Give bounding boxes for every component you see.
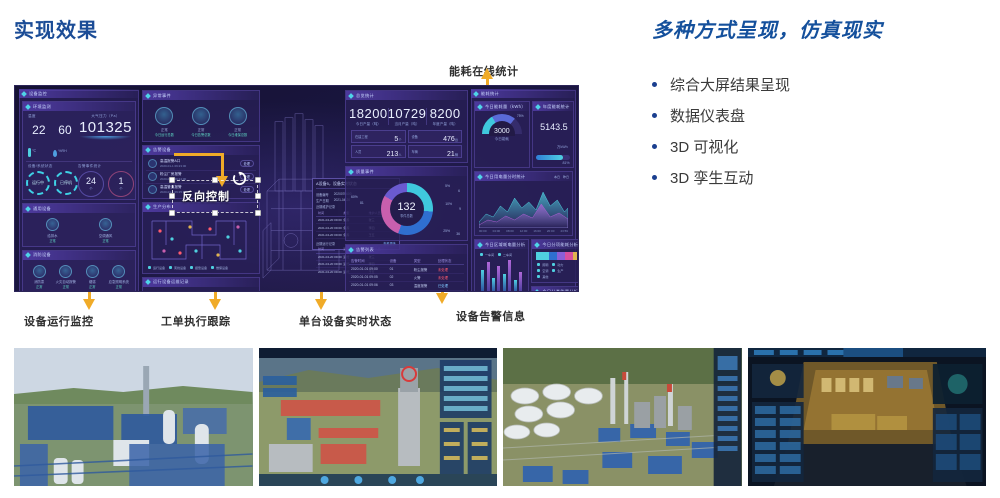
panel-title: 年度能耗统计 xyxy=(543,104,570,110)
legend-item: 维保设备 xyxy=(211,266,228,270)
fire-alarm-icon xyxy=(59,265,72,278)
stat-cell[interactable]: 人员 213人 xyxy=(351,145,406,158)
panel-annual-energy: 年度能耗统计 5143.5 万kWh 81% xyxy=(532,101,574,168)
panel-header: 今日用电量分时统计 本日 昨日 xyxy=(475,172,572,181)
cell: 2021-04-20 09:00 xyxy=(318,226,343,230)
dashboard-screenshot: 设备监控 环境监测 温度 xyxy=(14,85,579,292)
diamond-icon xyxy=(477,104,483,110)
stat-unit: 台 xyxy=(455,138,458,142)
stat-unit: 个 xyxy=(398,138,401,142)
column-header: 维修内容 xyxy=(175,291,202,292)
card-label: 今日告警总数 xyxy=(191,132,210,137)
annual-value: 5143.5 xyxy=(540,122,568,132)
kpi-group: 18200 今日产量（吨） 10729 当月产量（吨） 8200 年度产量（吨） xyxy=(349,103,464,129)
column-header: 设备名称 xyxy=(148,291,175,292)
diamond-icon xyxy=(348,247,354,253)
kpi-card: 10729 当月产量（吨） xyxy=(388,106,427,127)
panel-abnormal-events: 异常事件 正常 今日运行总数 正常 今日告警总数 正常 xyxy=(142,90,260,142)
stacked-bar xyxy=(536,252,577,260)
hvac-icon xyxy=(99,218,112,231)
panel-title: 今日分项能耗分析 xyxy=(542,242,578,248)
diamond-icon xyxy=(535,104,541,110)
panel-title: 今日用电量分时统计 xyxy=(485,174,525,180)
cell: 02 xyxy=(390,275,414,280)
reverse-control-label: 反向控制 xyxy=(182,188,230,204)
selection-box-reverse-control[interactable]: 反向控制 xyxy=(172,180,258,213)
diamond-icon xyxy=(145,93,151,99)
panel-header: 告警列表 xyxy=(346,245,467,254)
panel-header: 异常事件 xyxy=(143,91,259,100)
resize-handle-e[interactable] xyxy=(255,193,261,199)
kpi-value: 8200 xyxy=(426,106,464,121)
panel-hourly-trend: 今日用电量分时统计 本日 昨日 xyxy=(474,171,573,236)
summary-card[interactable]: 正常 今日维保总数 xyxy=(223,107,253,137)
page-title-right: 多种方式呈现，仿真现实 xyxy=(652,14,883,43)
humidity-drop-icon xyxy=(53,150,57,157)
photo-refinery-aerial[interactable] xyxy=(503,348,742,486)
kpi-label: 今日产量（吨） xyxy=(349,122,388,127)
cell: 01 xyxy=(390,267,414,272)
progress-bar xyxy=(536,155,570,160)
panel-maintenance-records: 运行设备运维记录 设备名称 维修内容 维修结果 完成时间 2020年粉尘间报警 … xyxy=(142,277,260,293)
column-header: 类型 xyxy=(414,258,438,263)
card-label: 今日维保总数 xyxy=(228,132,247,137)
panel-environment: 环境监测 温度 22 ℃ xyxy=(22,101,136,200)
donut-value-1: 6 xyxy=(458,189,460,193)
column-header: 处理状态 xyxy=(438,258,462,263)
panel-title: 通用设备 xyxy=(33,206,51,212)
temperature-unit: ℃ xyxy=(32,149,36,153)
reverse-stem-horizontal xyxy=(174,153,224,156)
stat-label: 人员 xyxy=(355,149,361,154)
cell: 2021-04-20 09:00 xyxy=(318,233,343,237)
panel-header: 设备监控 xyxy=(19,89,139,98)
callout-label-equipment-monitor: 设备运行监控 xyxy=(24,313,94,329)
diamond-icon xyxy=(477,174,483,180)
slide-root: 实现效果 多种方式呈现，仿真现实 综合大屏结果呈现 数据仪表盘 3D 可视化 3… xyxy=(0,0,1000,498)
cell-status: 未处理 xyxy=(438,275,462,280)
bullet-label: 数据仪表盘 xyxy=(670,105,745,126)
panel-quality-events: 质量事件 60% 81 5% 6 10% 9 25% 36 132 事件总数 xyxy=(345,166,468,241)
stat-grid: 在建工程 5个 设备 476台 人员 213人 车辆 21辆 xyxy=(349,129,464,160)
cell: 03 xyxy=(390,283,414,288)
pressure-value: 101325 xyxy=(79,119,132,136)
humidity-unit: %RH xyxy=(58,149,66,153)
water-icon xyxy=(46,218,59,231)
annual-pct: 81% xyxy=(536,161,570,165)
dashboard-column-energy: 能耗统计 今日能耗量（kWh） 3000 xyxy=(471,90,576,287)
panel-title: 异常事件 xyxy=(153,93,171,99)
bullet-dot-icon xyxy=(652,175,657,180)
bullet-dot-icon xyxy=(652,144,657,149)
panel-energy-statistics: 能耗统计 今日能耗量（kWh） 3000 xyxy=(471,90,576,292)
panel-alarm-list: 告警列表 告警时间 设备 类型 处理状态 2020-01-01 09:00 01… xyxy=(345,244,468,292)
bullet-label: 3D 孪生互动 xyxy=(670,167,753,188)
device-avatar-icon xyxy=(148,159,157,168)
panel-header: 通用设备 xyxy=(23,204,135,213)
summary-card[interactable]: 正常 今日运行总数 xyxy=(149,107,179,137)
panel-equipment-monitor: 设备监控 环境监测 温度 xyxy=(19,90,139,292)
panel-header: 今日区域耗电量分析 xyxy=(475,240,528,249)
panel-header: 能耗统计 xyxy=(471,89,576,98)
summary-card[interactable]: 正常 今日告警总数 xyxy=(186,107,216,137)
tick: 23:59 xyxy=(560,229,568,233)
panel-overview-stats: 总览统计 18200 今日产量（吨） 10729 当月产量（吨） 8200 年度… xyxy=(345,90,468,163)
column-header: 维修结果 xyxy=(201,291,228,292)
stat-value: 21 xyxy=(447,151,455,158)
cell: 粉尘报警 xyxy=(414,267,438,272)
legend-item: 其他 xyxy=(537,275,548,279)
table-header-row: 告警时间 设备 类型 处理状态 xyxy=(349,257,464,265)
panel-header: 今日分类能量分析 xyxy=(532,287,579,292)
tick: 16:00 xyxy=(533,229,541,233)
panel-header: 运行设备运维记录 xyxy=(143,278,259,287)
kpi-card: 18200 今日产量（吨） xyxy=(349,106,388,127)
stat-unit: 人 xyxy=(398,153,401,157)
value: 24 xyxy=(86,177,96,186)
list-item: 3D 孪生互动 xyxy=(652,167,992,198)
donut-pct-1: 5% xyxy=(445,184,450,188)
stat-cell[interactable]: 在建工程 5个 xyxy=(351,130,406,143)
table-row[interactable]: 2020-01-01 09:06 03 温度报警 已处理 xyxy=(349,282,464,290)
map-legend: 运行设备 离线设备 报警设备 维保设备 xyxy=(146,265,256,271)
panel-title: 消防设备 xyxy=(33,252,51,258)
donut-pct-2: 10% xyxy=(445,202,452,206)
photo-gallery xyxy=(14,348,986,486)
diamond-icon xyxy=(145,147,151,153)
panel-header: 总览统计 xyxy=(346,91,467,100)
stat-value: 476 xyxy=(443,136,455,143)
callout-label-workorder: 工单执行跟踪 xyxy=(161,313,231,329)
stat-label: 车辆 xyxy=(412,149,418,154)
smoke-sensor-icon xyxy=(86,265,99,278)
legend-item: 本日 xyxy=(554,175,560,179)
column-header: 告警时间 xyxy=(351,258,390,263)
tile-value: 正常 xyxy=(63,284,69,289)
callout-arrow-down-icon xyxy=(436,293,448,304)
panel-title: 设备监控 xyxy=(29,91,47,97)
bullet-label: 综合大屏结果呈现 xyxy=(670,74,790,95)
feature-bullet-list: 综合大屏结果呈现 数据仪表盘 3D 可视化 3D 孪生互动 xyxy=(652,74,992,198)
donut-center-value: 132 xyxy=(397,201,415,213)
stat-value: 213 xyxy=(387,151,399,158)
column-header: 完成时间 xyxy=(228,291,255,292)
resize-handle-sw[interactable] xyxy=(169,210,175,216)
panel-area-consumption: 今日区域耗电量分析 一车间 二车间 xyxy=(474,239,529,292)
area-chart xyxy=(479,184,568,228)
table-row[interactable]: 2020-01-01 09:05 02 火警 未处理 xyxy=(349,274,464,282)
stat-unit: 辆 xyxy=(455,153,458,157)
donut-ring: 132 事件总数 xyxy=(381,183,433,235)
legend-item: 生产 xyxy=(552,269,563,273)
list-item: 综合大屏结果呈现 xyxy=(652,74,992,105)
callout-arrow-down-icon xyxy=(209,299,221,310)
tile-value: 正常 xyxy=(89,284,95,289)
thermometer-icon xyxy=(28,148,31,157)
kpi-label: 年度产量（吨） xyxy=(426,122,464,127)
cell: 温度报警 xyxy=(414,283,438,288)
legend-item: 空调 xyxy=(537,269,548,273)
stat-cell[interactable]: 车辆 21辆 xyxy=(408,145,463,158)
fire-pump-icon xyxy=(33,265,46,278)
diamond-icon xyxy=(348,169,354,175)
cell: 2021-04-20 09:00 xyxy=(318,262,343,266)
panel-title: 告警设备 xyxy=(153,147,171,153)
bar-chart xyxy=(478,258,525,292)
panel-header: 质量事件 xyxy=(346,167,467,176)
cell: 火警 xyxy=(414,275,438,280)
panel-title: 质量事件 xyxy=(356,169,374,175)
diamond-icon xyxy=(535,289,541,292)
diamond-icon xyxy=(145,279,151,285)
temperature-value: 22 xyxy=(32,123,45,137)
donut-value-2: 9 xyxy=(459,207,461,211)
gauge-label: 今日能耗 xyxy=(478,137,526,142)
item-time: 2020-01-1 09:23:00 xyxy=(160,164,237,168)
diamond-icon xyxy=(21,91,27,97)
list-item: 3D 可视化 xyxy=(652,136,992,167)
tick: 12:00 xyxy=(520,229,528,233)
panel-common-devices: 通用设备 给排水 正常 空调通风 正常 xyxy=(22,203,136,247)
photo-indoor-night-twin[interactable] xyxy=(748,348,987,486)
legend-item: 运行设备 xyxy=(148,266,165,270)
humidity-value: 60 xyxy=(58,123,71,137)
panel-today-energy-gauge: 今日能耗量（kWh） 3000 75% 今日能耗 xyxy=(474,101,530,168)
panel-title: 今日能耗量（kWh） xyxy=(485,104,526,110)
panel-title: 环境监测 xyxy=(33,104,51,110)
legend-item: 一车间 xyxy=(480,253,494,257)
table-row[interactable]: 2020-01-01 09:07 04 温度报警 已处理 xyxy=(349,291,464,293)
ring-gauge-running: 运行中 xyxy=(26,171,50,195)
panel-header: 消防设备 xyxy=(23,251,135,260)
card-label: 今日运行总数 xyxy=(155,132,174,137)
field-key: 近期维护记录 xyxy=(316,204,335,209)
donut-pct-3: 25% xyxy=(443,229,450,233)
emergency-light-icon xyxy=(112,265,125,278)
donut-center: 132 事件总数 xyxy=(390,192,424,226)
donut-pct-4: 60% xyxy=(351,195,358,199)
photo-plant-render[interactable] xyxy=(14,348,253,486)
field-key: 生产日期 xyxy=(316,198,329,203)
kpi-card: 8200 年度产量（吨） xyxy=(426,106,464,127)
bullet-label: 3D 可视化 xyxy=(670,136,738,157)
cell: 2021-04-20 09:00 xyxy=(318,255,343,259)
alarm-count-b: 1 个 xyxy=(108,171,134,197)
legend-item: 昨日 xyxy=(563,175,569,179)
resize-handle-nw[interactable] xyxy=(169,177,175,183)
legend-item: 动力 xyxy=(552,263,563,267)
callout-arrow-down-icon xyxy=(83,299,95,310)
value: 1 xyxy=(118,177,123,186)
diamond-icon xyxy=(473,91,479,97)
tile-value: 正常 xyxy=(36,284,42,289)
x-axis-ticks: 00:00 04:00 08:00 12:00 16:00 20:00 23:5… xyxy=(478,228,569,233)
diamond-icon xyxy=(25,252,31,258)
panel-header: 环境监测 xyxy=(23,102,135,111)
bars-icon xyxy=(192,107,210,125)
ring-gauge-stopped: 已停机 xyxy=(54,171,78,195)
diamond-icon xyxy=(25,104,31,110)
page-title-left: 实现效果 xyxy=(14,14,98,43)
donut-center-label: 事件总数 xyxy=(400,213,413,218)
donut-chart: 60% 81 5% 6 10% 9 25% 36 132 事件总数 xyxy=(349,179,464,238)
kpi-value: 10729 xyxy=(388,106,427,121)
cell: 2020-01-01 09:06 xyxy=(351,283,390,288)
panel-title: 能耗统计 xyxy=(481,91,499,97)
device-tile[interactable]: 应急照明系统 正常 xyxy=(107,265,130,290)
dashboard-column-equipment: 设备监控 环境监测 温度 xyxy=(19,90,139,287)
panel-title: 生产分布 xyxy=(153,204,171,210)
panel-title: 今日分类能量分析 xyxy=(542,289,578,293)
device-avatar-icon xyxy=(148,172,157,181)
annual-unit: 万kWh xyxy=(557,145,568,149)
diamond-icon xyxy=(145,204,151,210)
column-header: 时间 xyxy=(318,211,343,215)
factory-floorplan[interactable] xyxy=(146,215,256,265)
seg1-legend: 照明 动力 空调 生产 其他 xyxy=(535,262,578,280)
callout-arrow-up-icon xyxy=(481,68,493,79)
panel-header: 今日分项能耗分析 xyxy=(532,240,579,249)
tile-value: 正常 xyxy=(116,284,122,289)
list-item[interactable]: 高温报警A口 2020-01-1 09:23:00 处理 xyxy=(146,158,256,171)
cell: 2020-01-01 09:05 xyxy=(351,275,390,280)
tile-value: 正常 xyxy=(49,238,55,243)
cell: 2021-04-20 09:00 xyxy=(318,218,343,222)
dashboard-column-overview: 总览统计 18200 今日产量（吨） 10729 当月产量（吨） 8200 年度… xyxy=(345,90,468,287)
cell: 2021-04-20 09:00 xyxy=(318,270,343,274)
device-tile[interactable]: 消防泵 正常 xyxy=(28,265,51,290)
diamond-icon xyxy=(25,206,31,212)
diamond-icon xyxy=(348,93,354,99)
device-tile[interactable]: 空调通风 正常 xyxy=(94,218,117,243)
legend-item: 照明 xyxy=(537,263,548,267)
tick: 08:00 xyxy=(506,229,514,233)
kpi-value: 18200 xyxy=(349,106,388,121)
callout-arrow-down-icon xyxy=(315,299,327,310)
list-item: 数据仪表盘 xyxy=(652,105,992,136)
stat-label: 在建工程 xyxy=(355,134,368,139)
bullet-dot-icon xyxy=(652,82,657,87)
device-tile[interactable]: 给排水 正常 xyxy=(41,218,64,243)
tile-value: 正常 xyxy=(102,238,108,243)
legend-item: 报警设备 xyxy=(190,266,207,270)
panel-header: 年度能耗统计 xyxy=(533,102,573,111)
resize-handle-s[interactable] xyxy=(212,210,218,216)
table-row[interactable]: 2020-01-01 09:00 01 粉尘报警 未处理 xyxy=(349,265,464,273)
panel-title: 运行设备运维记录 xyxy=(153,279,189,285)
field-key: 设备编号 xyxy=(316,192,329,197)
panel-fire-devices: 消防设备 消防泵 正常 火灾自动报警 正常 xyxy=(22,250,136,293)
resize-handle-n[interactable] xyxy=(212,177,218,183)
tick: 00:00 xyxy=(479,229,487,233)
callout-label-alarm: 设备告警信息 xyxy=(456,308,526,324)
table-header-row: 设备名称 维修内容 维修结果 完成时间 xyxy=(146,290,256,293)
cell-status: 未处理 xyxy=(438,267,462,272)
gauge-value: 3000 xyxy=(482,128,522,135)
panel-title: 告警列表 xyxy=(356,247,374,253)
legend-item: 二车间 xyxy=(498,253,512,257)
gauge-pct: 75% xyxy=(517,114,524,118)
panel-title: 今日区域耗电量分析 xyxy=(485,242,525,248)
donut-value-3: 36 xyxy=(456,232,460,236)
device-avatar-icon xyxy=(148,185,157,194)
bullet-dot-icon xyxy=(652,113,657,118)
tick: 20:00 xyxy=(547,229,555,233)
callout-label-device-realtime: 单台设备实时状态 xyxy=(299,313,392,329)
stat-cell[interactable]: 设备 476台 xyxy=(408,130,463,143)
unit: 个 xyxy=(89,186,92,191)
device-tile[interactable]: 烟感 正常 xyxy=(81,265,104,290)
subsection-title: 近期运行记录 xyxy=(316,241,335,246)
action-pill[interactable]: 处理 xyxy=(240,160,254,167)
resize-handle-w[interactable] xyxy=(169,193,175,199)
diamond-icon xyxy=(535,242,541,248)
photo-cement-plant-twin[interactable] xyxy=(259,348,498,486)
donut-value-4: 81 xyxy=(360,201,364,205)
device-tile[interactable]: 火灾自动报警 正常 xyxy=(54,265,77,290)
diamond-icon xyxy=(477,242,483,248)
column-header: 时间 xyxy=(318,247,343,251)
resize-handle-ne[interactable] xyxy=(255,177,261,183)
kpi-label: 当月产量（吨） xyxy=(388,122,427,127)
tick: 04:00 xyxy=(493,229,501,233)
resize-handle-se[interactable] xyxy=(255,210,261,216)
cell: 2020-01-01 09:00 xyxy=(351,267,390,272)
alarm-count-a: 24 个 xyxy=(78,171,104,197)
unit: 个 xyxy=(119,186,122,191)
column-header: 设备 xyxy=(390,258,414,263)
list-icon xyxy=(229,107,247,125)
gauge-chart: 3000 xyxy=(482,114,522,136)
panel-category-energy-split: 今日分类能量分析 电力 蒸汽 天然气 xyxy=(531,286,579,292)
panel-title: 总览统计 xyxy=(356,93,374,99)
panel-item-energy-split: 今日分项能耗分析 照明 动力 xyxy=(531,239,579,283)
legend-item: 离线设备 xyxy=(169,266,186,270)
panel-header: 今日能耗量（kWh） xyxy=(475,102,529,111)
stat-label: 设备 xyxy=(412,134,418,139)
chart-icon xyxy=(155,107,173,125)
cell-status: 已处理 xyxy=(438,283,462,288)
